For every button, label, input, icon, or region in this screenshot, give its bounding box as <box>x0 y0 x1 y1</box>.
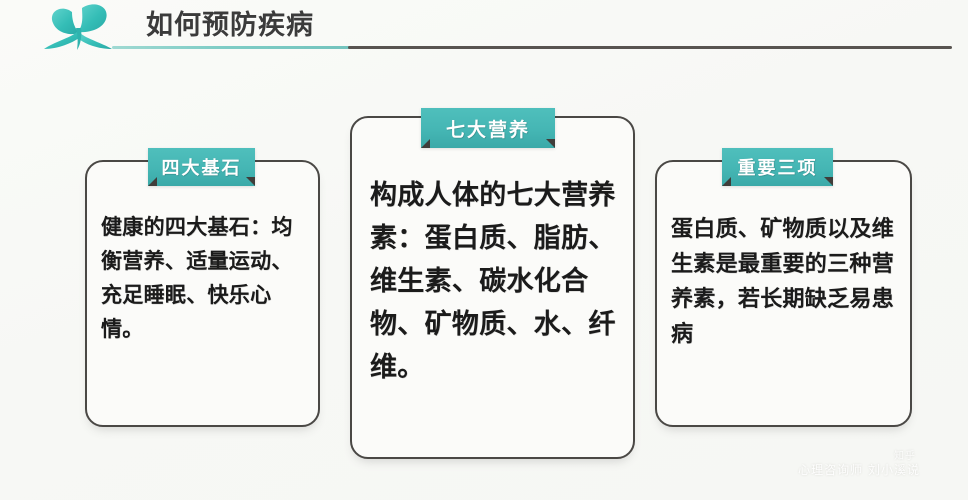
badge-foundations: 四大基石 <box>148 148 255 186</box>
header-rule-dark <box>348 46 952 49</box>
card-nutrients-body: 构成人体的七大营养素：蛋白质、脂肪、维生素、碳水化合物、矿物质、水、纤维。 <box>370 174 621 389</box>
card-nutrients: 构成人体的七大营养素：蛋白质、脂肪、维生素、碳水化合物、矿物质、水、纤维。 <box>350 116 635 459</box>
card-important-body: 蛋白质、矿物质以及维生素是最重要的三种营养素，若长期缺乏易患病 <box>671 212 900 352</box>
card-foundations: 健康的四大基石：均衡营养、适量运动、充足睡眠、快乐心情。 <box>85 160 320 427</box>
badge-nutrients: 七大营养 <box>421 108 555 148</box>
card-important: 蛋白质、矿物质以及维生素是最重要的三种营养素，若长期缺乏易患病 <box>655 160 912 427</box>
slide-canvas: 如何预防疾病 健康的四大基石：均衡营养、适量运动、充足睡眠、快乐心情。 四大基石… <box>0 0 968 500</box>
badge-important: 重要三项 <box>722 148 833 186</box>
header-rule-teal <box>112 46 352 49</box>
watermark-brand: 知乎 <box>894 447 916 462</box>
card-foundations-body: 健康的四大基石：均衡营养、适量运动、充足睡眠、快乐心情。 <box>101 210 308 346</box>
watermark-author: 心理咨询师 刘小溪说 <box>798 461 920 478</box>
page-title: 如何预防疾病 <box>146 3 314 42</box>
slide-header: 如何预防疾病 <box>0 0 968 62</box>
